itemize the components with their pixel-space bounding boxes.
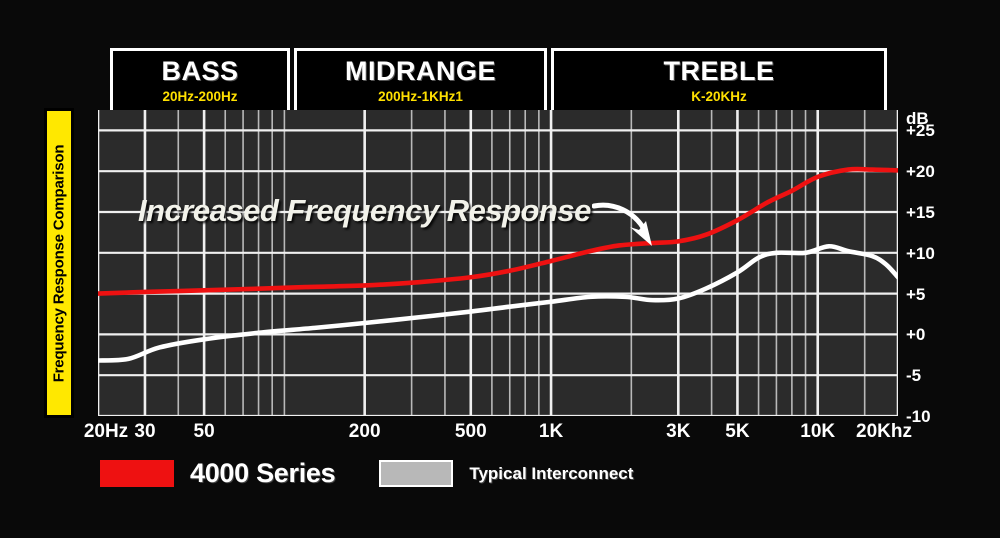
x-tick-label: 1K (539, 422, 563, 441)
frequency-response-plot (98, 110, 898, 416)
band-midrange: MIDRANGE200Hz-1KHz1 (294, 48, 547, 110)
plot-background (98, 110, 898, 416)
y-tick-label: +0 (906, 326, 925, 343)
x-tick-label: 30 (134, 422, 155, 441)
legend-item: Typical Interconnect (379, 460, 633, 487)
legend-swatch (379, 460, 453, 487)
band-title: MIDRANGE (345, 58, 496, 85)
x-tick-label: 20Khz (856, 422, 912, 441)
y-tick-label: -5 (906, 367, 921, 384)
band-range: K-20KHz (691, 90, 747, 104)
band-range: 20Hz-200Hz (162, 90, 237, 104)
y-tick-label: +25 (906, 122, 935, 139)
x-tick-label: 50 (194, 422, 215, 441)
frequency-response-comparison-label: Frequency Response Comparison (44, 108, 74, 418)
annotation-text: Increased Frequency Response (138, 193, 591, 229)
y-tick-label: +15 (906, 204, 935, 221)
band-range: 200Hz-1KHz1 (378, 90, 463, 104)
legend-item: 4000 Series (100, 458, 335, 489)
x-tick-label: 200 (349, 422, 381, 441)
x-tick-label: 5K (725, 422, 749, 441)
legend-label: Typical Interconnect (469, 464, 633, 484)
band-bass: BASS20Hz-200Hz (110, 48, 290, 110)
plot-canvas (98, 110, 898, 416)
x-tick-label: 20Hz (84, 422, 128, 441)
x-tick-label: 10K (800, 422, 835, 441)
chart-infographic: BASS20Hz-200HzMIDRANGE200Hz-1KHz1TREBLEK… (0, 0, 1000, 538)
legend-label: 4000 Series (190, 458, 335, 489)
y-tick-label: +10 (906, 245, 935, 262)
band-treble: TREBLEK-20KHz (551, 48, 887, 110)
y-tick-label: +5 (906, 286, 925, 303)
band-title: TREBLE (664, 58, 775, 85)
y-tick-label: +20 (906, 163, 935, 180)
legend-swatch (100, 460, 174, 487)
side-label-text: Frequency Response Comparison (51, 144, 68, 382)
x-tick-label: 3K (666, 422, 690, 441)
band-title: BASS (161, 58, 238, 85)
x-tick-label: 500 (455, 422, 487, 441)
chart-legend: 4000 SeriesTypical Interconnect (100, 458, 633, 489)
annotation-arrow-icon (592, 196, 662, 252)
